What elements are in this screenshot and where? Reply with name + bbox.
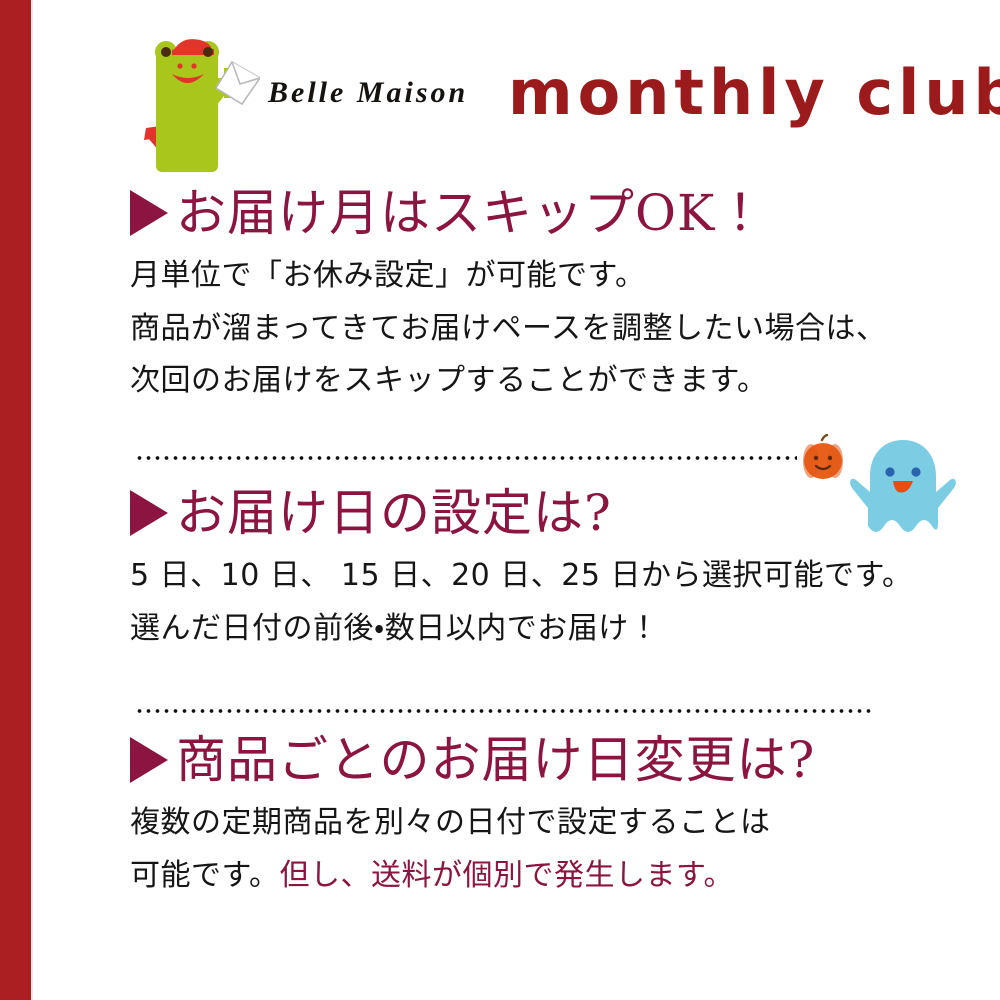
- dotted-divider: [135, 455, 797, 461]
- triangle-right-icon: [130, 737, 168, 783]
- triangle-right-icon: [130, 490, 168, 536]
- section-body: 5 日、10 日、 15 日、20 日、25 日から選択可能です。 選んだ日付の…: [130, 550, 1000, 655]
- body-line: 5 日、10 日、 15 日、20 日、25 日から選択可能です。: [130, 550, 1000, 603]
- section-delivery-date: お届け日の設定は? 5 日、10 日、 15 日、20 日、25 日から選択可能…: [130, 486, 1000, 655]
- section-heading-row: 商品ごとのお届け日変更は?: [130, 733, 1000, 787]
- body-line: 月単位で「お休み設定」が可能です。: [130, 250, 1000, 303]
- banner-header: Belle Maison monthly club: [120, 28, 980, 178]
- dotted-divider: [135, 708, 872, 714]
- section-heading-text: 商品ごとのお届け日変更は?: [176, 733, 815, 787]
- body-line: 複数の定期商品を別々の日付で設定することは: [130, 797, 1000, 850]
- body-line-plain: 可能です。: [130, 858, 280, 893]
- section-per-item-date-change: 商品ごとのお届け日変更は? 複数の定期商品を別々の日付で設定することは 可能です…: [130, 733, 1000, 902]
- body-line: 選んだ日付の前後・数日以内でお届け！: [130, 603, 1000, 656]
- section-heading-row: お届け日の設定は?: [130, 486, 1000, 540]
- triangle-right-icon: [130, 190, 168, 236]
- left-red-band: [0, 0, 31, 1000]
- monthly-club-banner: Belle Maison monthly club お届け月はスキップOK！ 月…: [0, 0, 1000, 1000]
- body-line-accent: 但し、送料が個別で発生します。: [280, 858, 735, 893]
- section-body: 複数の定期商品を別々の日付で設定することは 可能です。但し、送料が個別で発生しま…: [130, 797, 1000, 902]
- section-skip-month: お届け月はスキップOK！ 月単位で「お休み設定」が可能です。 商品が溜まってきて…: [130, 186, 1000, 408]
- left-band-edge: [31, 0, 33, 1000]
- body-line-mixed: 可能です。但し、送料が個別で発生します。: [130, 850, 1000, 903]
- frog-mailman-mascot-icon: [120, 34, 260, 174]
- brand-script-text: Belle Maison: [268, 76, 468, 110]
- body-line: 次回のお届けをスキップすることができます。: [130, 355, 1000, 408]
- brand-main-title: monthly club: [508, 62, 1000, 124]
- body-line: 商品が溜まってきてお届けペースを調整したい場合は、: [130, 303, 1000, 356]
- section-heading-text: お届け日の設定は?: [176, 486, 612, 540]
- section-body: 月単位で「お休み設定」が可能です。 商品が溜まってきてお届けペースを調整したい場…: [130, 250, 1000, 408]
- pumpkin-icon: [800, 434, 846, 482]
- section-heading-text: お届け月はスキップOK！: [176, 186, 766, 240]
- section-heading-row: お届け月はスキップOK！: [130, 186, 1000, 240]
